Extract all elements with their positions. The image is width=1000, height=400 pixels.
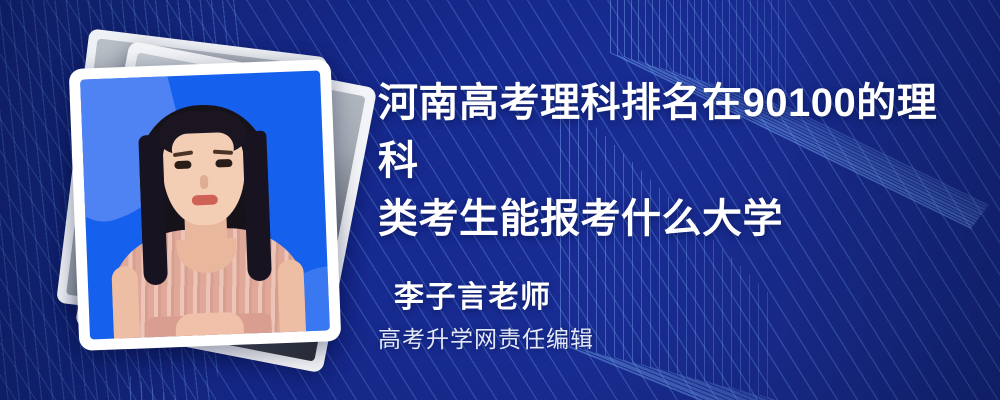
portrait-fringe <box>157 109 247 154</box>
article-banner: 河南高考理科排名在90100的理科 类考生能报考什么大学 李子言老师 高考升学网… <box>0 0 1000 400</box>
portrait-eye-right <box>215 159 232 168</box>
photo-card-stack <box>58 36 368 366</box>
page-title: 河南高考理科排名在90100的理科 类考生能报考什么大学 <box>378 74 958 248</box>
author-role: 高考升学网责任编辑 <box>378 320 594 354</box>
portrait-hands <box>175 312 244 340</box>
portrait-photo <box>80 70 330 339</box>
front-photo-card <box>69 59 342 351</box>
portrait-eye-left <box>174 160 191 169</box>
portrait-arm-right <box>277 259 306 338</box>
author-name: 李子言老师 <box>394 272 552 316</box>
portrait-arm-left <box>111 266 140 340</box>
portrait-figure <box>80 70 330 339</box>
portrait-lips <box>192 195 218 206</box>
banner-text-block: 河南高考理科排名在90100的理科 类考生能报考什么大学 李子言老师 高考升学网… <box>378 0 978 400</box>
portrait-hair-right <box>242 131 272 282</box>
portrait-nose <box>200 175 209 189</box>
